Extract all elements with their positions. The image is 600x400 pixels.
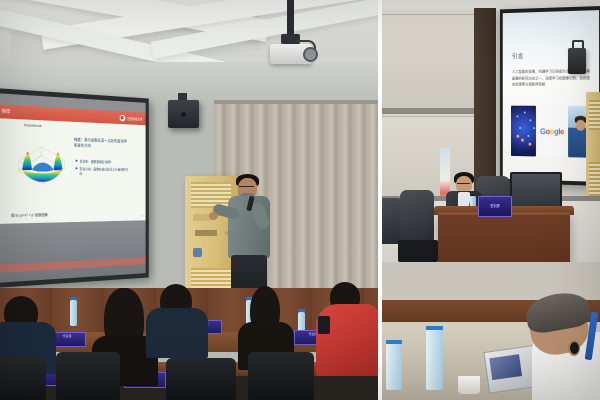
university-brand: 江西财经大学 [119, 114, 142, 122]
bullet-text: 变化方向：函数在该点处沿上升最快的方向 [80, 167, 129, 176]
slide-page-number: 9 [141, 214, 142, 218]
slide-note-text: 梯度：表示函数在某一点处的变化率和变化方向 [74, 137, 128, 150]
chair-seat [398, 240, 438, 262]
paper-cup [458, 376, 480, 394]
google-logo-image: Google [539, 106, 565, 157]
neural-network-brain-image [511, 106, 536, 157]
air-conditioner [586, 92, 600, 212]
bottle-cap-icon [298, 309, 305, 312]
whiteboard-edge [382, 108, 474, 114]
google-wordmark-icon: Google [540, 127, 564, 136]
slide-header-title: 梯度 [2, 108, 11, 114]
smartphone[interactable] [318, 316, 330, 334]
eyeglasses-icon [457, 183, 470, 187]
bullet-text: 变化率：函数值增加“最快” [80, 160, 112, 165]
ac-vent-grille [191, 182, 231, 208]
right-photo-panel: 引言 人工智能的发展，机器学习已经成为当今科技领域最重要的研究方向之一，深度学习… [382, 0, 600, 400]
earbud-icon [570, 342, 579, 354]
projection-screen-frame: 梯度 江西财经大学 Rosenbrock [0, 88, 149, 288]
tablet-text: 签到屏 [479, 203, 511, 208]
wall-speaker [568, 48, 586, 74]
chair-back [166, 358, 236, 400]
ac-brand-icon [193, 248, 202, 257]
projector-mount-pole [287, 0, 294, 36]
projection-screen: 梯度 江西财经大学 Rosenbrock [0, 93, 146, 283]
slide-title: 引言 [512, 51, 524, 60]
projection-screen: 引言 人工智能的发展，机器学习已经成为当今科技领域最重要的研究方向之一，深度学习… [503, 10, 599, 182]
bottle-cap-icon [70, 297, 77, 300]
office-chair [400, 190, 434, 246]
slide-bullet-list: ▶ 变化率：函数值增加“最快” ▶ 变化方向：函数在该点处沿上升最快的方向 [76, 160, 129, 180]
slide-body: Rosenbrock [0, 118, 146, 224]
person-torso [316, 304, 378, 376]
chair-back [248, 352, 314, 400]
plot-title: Rosenbrock [24, 123, 41, 128]
bottle-cap-icon [386, 340, 402, 344]
university-name: 江西财经大学 [127, 116, 143, 121]
surface-plot-3d [13, 133, 69, 194]
bullet-triangle-icon: ▶ [76, 160, 78, 165]
projection-screen-frame: 引言 人工智能的发展，机器学习已经成为当今科技领域最重要的研究方向之一，深度学习… [500, 6, 600, 186]
screenshot-root: 梯度 江西财经大学 Rosenbrock [0, 0, 600, 400]
screen-reflection-strip [0, 257, 146, 273]
presentation-slide: 梯度 江西财经大学 Rosenbrock [0, 104, 146, 224]
plot-caption: 图 f(x,y)=x² + y² 函数图像 [11, 213, 48, 219]
water-bottle [70, 300, 77, 326]
speaker-cone-icon [181, 112, 186, 117]
ac-vent-grille [589, 162, 600, 196]
chair-back [0, 356, 46, 400]
chair-back [56, 352, 120, 400]
water-bottle [386, 344, 402, 390]
wall-dark-column [474, 8, 496, 204]
ac-control-panel[interactable] [195, 230, 217, 236]
slide-image-row: Google [511, 106, 594, 158]
left-photo-panel: 梯度 江西财经大学 Rosenbrock [0, 0, 378, 400]
water-bottle [426, 330, 443, 390]
podium-tablet-display[interactable]: 签到屏 [478, 196, 512, 217]
bottle-cap-icon [426, 326, 443, 330]
person-torso [146, 308, 208, 358]
bullet-triangle-icon: ▶ [76, 167, 78, 176]
slide-bullet-item: ▶ 变化方向：函数在该点处沿上升最快的方向 [76, 167, 129, 176]
projector-lens-icon [303, 47, 318, 62]
eyeglasses-icon [239, 186, 254, 191]
screen-lower-area [0, 220, 146, 282]
ac-vent-grille [589, 100, 600, 130]
speaker-left-hand [209, 212, 218, 220]
slide-bullet-item: ▶ 变化率：函数值增加“最快” [76, 160, 129, 165]
whiteboard [382, 14, 476, 112]
university-logo-icon [119, 114, 125, 121]
